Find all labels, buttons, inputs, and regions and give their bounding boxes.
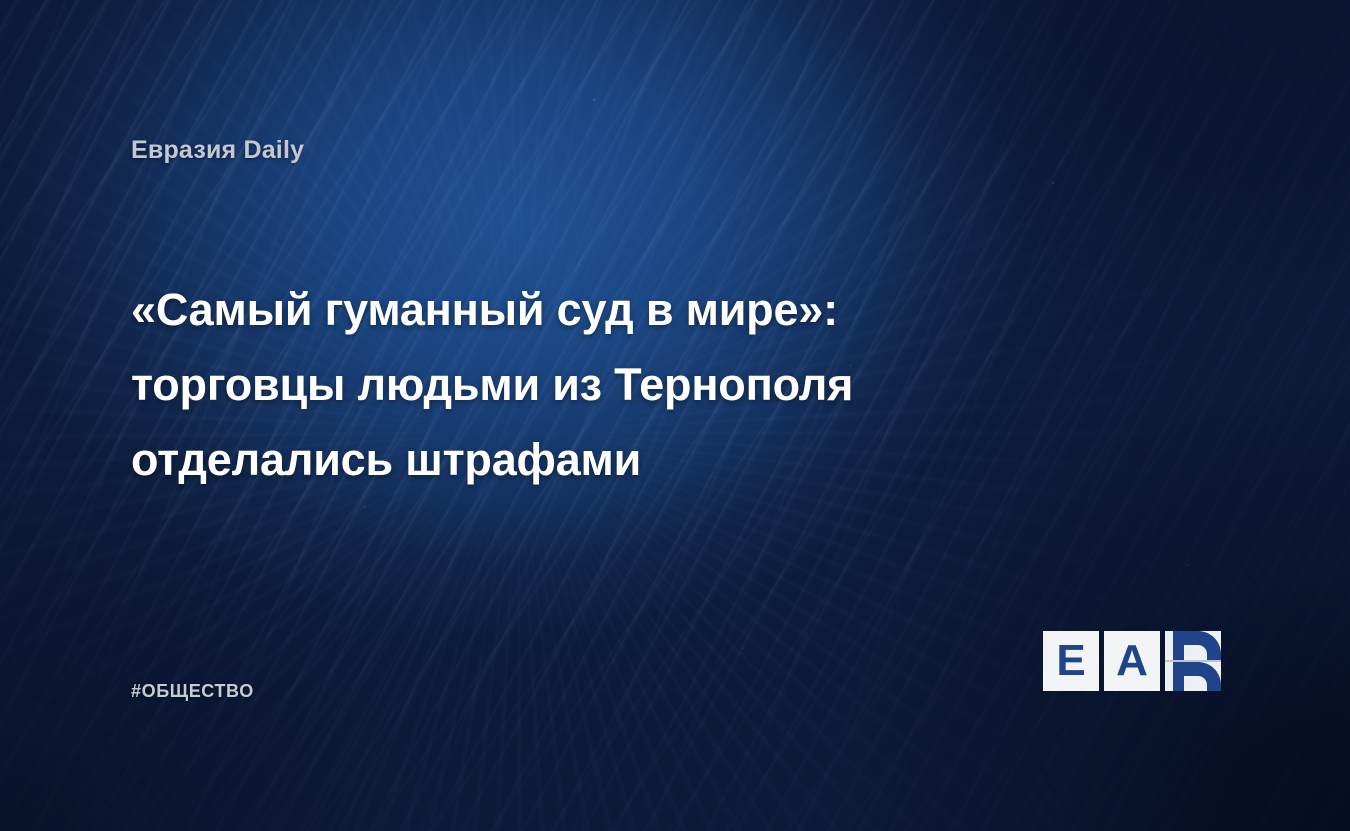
logo-glyph-d-icon	[1165, 621, 1243, 701]
logo-letter-e: E	[1043, 631, 1099, 691]
news-share-card: Евразия Daily «Самый гуманный суд в мире…	[0, 0, 1350, 831]
headline: «Самый гуманный суд в мире»: торговцы лю…	[131, 272, 1031, 497]
card-content: Евразия Daily «Самый гуманный суд в мире…	[0, 0, 1350, 831]
brand-title: Евразия Daily	[131, 136, 304, 165]
eadaily-logo: E A	[1043, 631, 1221, 691]
category-tag: #ОБЩЕСТВО	[131, 681, 254, 702]
logo-tile-e: E	[1043, 631, 1099, 691]
logo-tile-a: A	[1104, 631, 1160, 691]
headline-line-2: торговцы людьми из Тернополя	[131, 347, 1031, 422]
logo-letter-a: A	[1104, 631, 1160, 691]
headline-line-3: отделались штрафами	[131, 422, 1031, 497]
headline-line-1: «Самый гуманный суд в мире»:	[131, 272, 1031, 347]
